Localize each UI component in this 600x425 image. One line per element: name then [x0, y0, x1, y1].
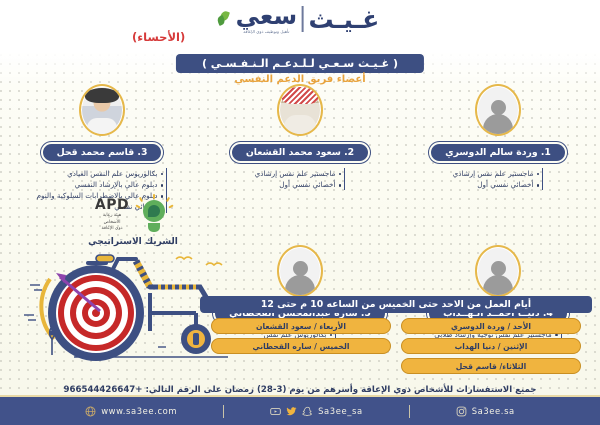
- list-item: أخصائي نفسي أول: [255, 179, 345, 190]
- footer-bar: www.sa3ee.com Sa3ee_sa Sa3ee.sa: [0, 395, 600, 425]
- brand-logo: غـيـث سعي تأهيل وتوظيف ذوي الإعاقة: [221, 4, 380, 34]
- schedule-section: أيام العمل من الاحد حتى الخميس من الساعه…: [200, 296, 592, 374]
- target-wheel: [41, 265, 144, 361]
- footer-social-handle: Sa3ee_sa: [318, 406, 363, 416]
- snapchat-icon: [302, 406, 313, 417]
- avatar: [475, 84, 521, 136]
- instagram-icon: [456, 406, 467, 417]
- footer-social[interactable]: Sa3ee_sa: [270, 406, 363, 417]
- strategic-partner: APD هيئة رعاية الأشخاص ذوي الإعاقة الشري…: [58, 196, 208, 247]
- apd-name-line-1: هيئة رعاية: [103, 213, 121, 219]
- logo-tagline: تأهيل وتوظيف ذوي الإعاقة: [243, 29, 289, 34]
- contact-note: جميع الاستفسارات للأشخاص ذوي الإعاقة وأس…: [0, 385, 600, 395]
- schedule-header: أيام العمل من الاحد حتى الخميس من الساعه…: [200, 296, 592, 313]
- plant-icon: [50, 327, 55, 355]
- schedule-day-thursday[interactable]: الخميس / ساره القحطاني: [211, 338, 391, 354]
- bird-icons: [176, 257, 222, 265]
- team-member-credentials: ماجستير علم نفس إرشادي أخصائي نفسي أول: [453, 168, 544, 190]
- lightbulb-person-icon: [137, 196, 171, 234]
- schedule-column-right: الأحد / وردة الدوسري الإثنين / دنيا الهد…: [401, 318, 581, 374]
- schedule-day-monday[interactable]: الإثنين / دنيا الهداب: [401, 338, 581, 354]
- logo-sa3ee-text: سعي: [236, 4, 297, 28]
- footer-instagram-handle: Sa3ee.sa: [472, 406, 515, 416]
- logo-divider: [302, 6, 304, 32]
- schedule-day-tuesday[interactable]: الثلاثاء/ قاسم قحل: [401, 358, 581, 374]
- schedule-day-wednesday[interactable]: الأربعاء / سعود القشعان: [211, 318, 391, 334]
- list-item: ماجستير علم نفس إرشادي: [255, 168, 345, 179]
- team-card-1: 1. وردة سالم الدوسري ماجستير علم نفس إرش…: [404, 84, 592, 229]
- team-member-name: 3. قاسم محمد قحل: [41, 142, 164, 163]
- team-member-name: 2. سعود محمد القشعان: [230, 142, 370, 163]
- schedule-day-sunday[interactable]: الأحد / وردة الدوسري: [401, 318, 581, 334]
- team-card-2: 2. سعود محمد القشعان ماجستير علم نفس إرش…: [206, 84, 394, 229]
- wheelchair-target-illustration: [0, 253, 230, 363]
- apd-name-line-3: ذوي الإعاقة: [101, 226, 122, 232]
- avatar: [475, 245, 521, 297]
- avatar: [79, 84, 125, 136]
- header: غـيـث سعي تأهيل وتوظيف ذوي الإعاقة (الأح…: [0, 0, 600, 88]
- leaf-icon: [218, 11, 231, 28]
- footer-website[interactable]: www.sa3ee.com: [85, 406, 177, 417]
- apd-logo: APD هيئة رعاية الأشخاص ذوي الإعاقة: [95, 198, 129, 232]
- globe-icon: [85, 406, 96, 417]
- page-title: ( غـيـث سـعـي لـلـدعـم الـنـفـسـي ): [176, 54, 424, 73]
- footer-instagram[interactable]: Sa3ee.sa: [456, 406, 515, 417]
- schedule-columns: الأحد / وردة الدوسري الإثنين / دنيا الهد…: [200, 318, 592, 374]
- footer-divider-2: [409, 405, 410, 418]
- footer-website-label: www.sa3ee.com: [101, 406, 177, 416]
- youtube-icon: [270, 406, 281, 417]
- city-label: (الأحساء): [132, 30, 185, 44]
- partner-label: الشريك الاستراتيجي: [58, 237, 208, 247]
- apd-name-line-2: الأشخاص: [104, 220, 121, 226]
- list-item: ماجستير علم نفس إرشادي: [453, 168, 543, 179]
- avatar: [277, 84, 323, 136]
- team-member-credentials: ماجستير علم نفس إرشادي أخصائي نفسي أول: [255, 168, 346, 190]
- team-member-name: 1. وردة سالم الدوسري: [429, 142, 567, 163]
- partner-logo-row: APD هيئة رعاية الأشخاص ذوي الإعاقة: [58, 196, 208, 234]
- list-item: بكالوريوس علم النفس العيادي: [37, 168, 167, 179]
- avatar: [277, 245, 323, 297]
- footer-divider-1: [223, 405, 224, 418]
- twitter-icon: [286, 406, 297, 417]
- logo-ghaith-text: غـيـث: [309, 7, 380, 32]
- schedule-column-left: الأربعاء / سعود القشعان الخميس / ساره ال…: [211, 318, 391, 374]
- infographic-page: غـيـث سعي تأهيل وتوظيف ذوي الإعاقة (الأح…: [0, 0, 600, 425]
- list-item: دبلوم عالي بالإرشاد النفسي: [37, 179, 167, 190]
- logo-sa3ee-block: سعي تأهيل وتوظيف ذوي الإعاقة: [236, 4, 297, 34]
- list-item: أخصائي نفسي أول: [453, 179, 543, 190]
- apd-abbreviation: APD: [95, 198, 129, 212]
